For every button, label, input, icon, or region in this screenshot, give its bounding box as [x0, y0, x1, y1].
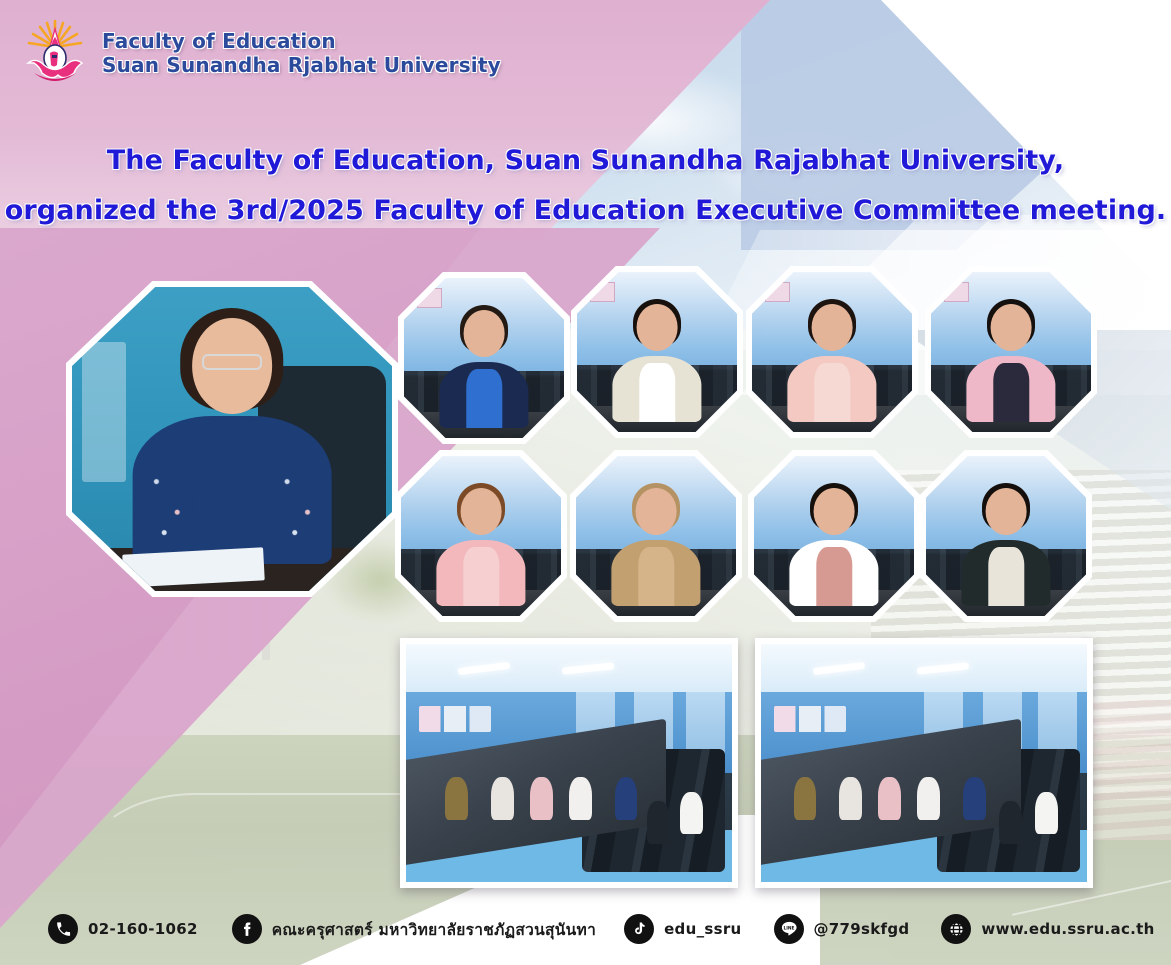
- contact-line[interactable]: LINE @779skfgd: [774, 914, 910, 944]
- photo-committee-2: [571, 266, 743, 438]
- photo-main-portrait: [66, 281, 398, 597]
- title-line-2: organized the 3rd/2025 Faculty of Educat…: [0, 186, 1171, 236]
- contact-line-label: @779skfgd: [814, 920, 910, 938]
- title-line-1: The Faculty of Education, Suan Sunandha …: [0, 136, 1171, 186]
- contact-phone[interactable]: 02-160-1062: [48, 914, 198, 944]
- photo-committee-4: [925, 266, 1097, 438]
- contact-facebook-label: คณะครุศาสตร์ มหาวิทยาลัยราชภัฏสวนสุนันทา: [272, 917, 596, 942]
- photo-committee-5: [395, 450, 567, 622]
- globe-icon: [941, 914, 971, 944]
- poster-title: The Faculty of Education, Suan Sunandha …: [0, 136, 1171, 236]
- photo-meeting-wide-2: [755, 638, 1093, 888]
- contact-tiktok[interactable]: edu_ssru: [624, 914, 741, 944]
- photo-committee-7: [748, 450, 920, 622]
- contact-tiktok-label: edu_ssru: [664, 920, 741, 938]
- contact-phone-label: 02-160-1062: [88, 920, 198, 938]
- photo-committee-1: [398, 272, 570, 444]
- contact-website-label: www.edu.ssru.ac.th: [981, 920, 1154, 938]
- footer-contact-bar: 02-160-1062 คณะครุศาสตร์ มหาวิทยาลัยราชภ…: [0, 893, 1171, 965]
- tiktok-icon: [624, 914, 654, 944]
- photo-committee-6: [570, 450, 742, 622]
- brand-line-faculty: Faculty of Education: [102, 30, 501, 54]
- photo-committee-8: [920, 450, 1092, 622]
- poster-canvas: Faculty of Education Suan Sunandha Rjabh…: [0, 0, 1171, 965]
- ssru-emblem-icon: [22, 17, 88, 91]
- svg-text:LINE: LINE: [783, 926, 794, 932]
- facebook-icon: [232, 914, 262, 944]
- contact-facebook[interactable]: คณะครุศาสตร์ มหาวิทยาลัยราชภัฏสวนสุนันทา: [232, 914, 596, 944]
- brand-line-university: Suan Sunandha Rjabhat University: [102, 54, 501, 78]
- poster-header: Faculty of Education Suan Sunandha Rjabh…: [0, 0, 620, 108]
- photo-meeting-wide-1: [400, 638, 738, 888]
- phone-icon: [48, 914, 78, 944]
- line-icon: LINE: [774, 914, 804, 944]
- contact-website[interactable]: www.edu.ssru.ac.th: [941, 914, 1154, 944]
- photo-committee-3: [746, 266, 918, 438]
